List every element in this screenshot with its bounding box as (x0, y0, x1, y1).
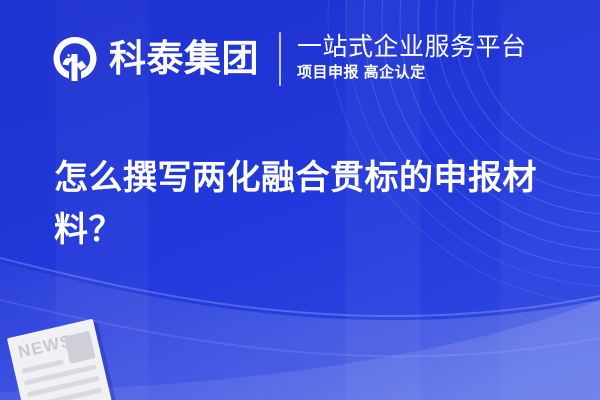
tagline-secondary: 项目申报 高企认定 (297, 62, 527, 85)
page-title: 怎么撰写两化融合贯标的申报材料？ (54, 152, 554, 256)
header-tagline: 一站式企业服务平台 项目申报 高企认定 (297, 33, 527, 85)
header-divider (279, 32, 281, 86)
tagline-primary: 一站式企业服务平台 (297, 33, 527, 61)
newspaper-icon: NEWS (0, 309, 139, 400)
article-banner: 科泰集团 一站式企业服务平台 项目申报 高企认定 怎么撰写两化融合贯标的申报材料… (0, 0, 600, 400)
banner-header: 科泰集团 一站式企业服务平台 项目申报 高企认定 (50, 27, 527, 91)
brand-name: 科泰集团 (109, 40, 259, 79)
ketai-circle-logo-icon (50, 34, 100, 84)
